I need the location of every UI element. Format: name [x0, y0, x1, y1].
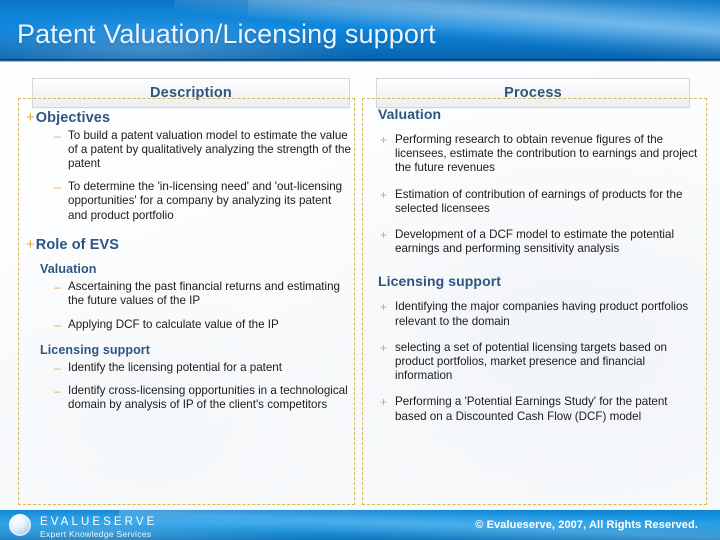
- plus-bullet-icon: +: [380, 228, 395, 256]
- brand-name: EVALUESERVE: [40, 516, 157, 528]
- list-item-text: Identify the licensing potential for a p…: [68, 361, 352, 375]
- list-item: – Identify the licensing potential for a…: [54, 361, 352, 375]
- list-item-text: Development of a DCF model to estimate t…: [395, 228, 702, 256]
- slide-footer-bar: EVALUESERVE Expert Knowledge Services © …: [0, 510, 720, 540]
- list-item-text: Identifying the major companies having p…: [395, 300, 702, 328]
- plus-bullet-icon: +: [380, 341, 395, 384]
- description-content: + Objectives – To build a patent valuati…: [26, 104, 352, 421]
- list-item-text: Applying DCF to calculate value of the I…: [68, 318, 352, 332]
- list-item-text: To build a patent valuation model to est…: [68, 129, 352, 172]
- slide-canvas: Patent Valuation/Licensing support Descr…: [0, 0, 720, 540]
- list-item-text: To determine the 'in-licensing need' and…: [68, 180, 352, 223]
- subheading-valuation: Valuation: [378, 106, 702, 122]
- list-item: + Development of a DCF model to estimate…: [380, 228, 702, 256]
- plus-bullet-icon: +: [380, 395, 395, 423]
- list-item-text: Estimation of contribution of earnings o…: [395, 188, 702, 216]
- plus-icon: +: [26, 110, 35, 127]
- subheading-valuation: Valuation: [40, 262, 352, 276]
- header-underline: [0, 59, 720, 62]
- list-item: – To build a patent valuation model to e…: [54, 129, 352, 172]
- process-content: Valuation + Performing research to obtai…: [378, 104, 702, 433]
- list-item: + Performing a 'Potential Earnings Study…: [380, 395, 702, 423]
- list-item: – Identify cross-licensing opportunities…: [54, 384, 352, 412]
- list-item-text: Ascertaining the past financial returns …: [68, 280, 352, 308]
- licensing-support-list: – Identify the licensing potential for a…: [40, 361, 352, 413]
- logo-leaf-icon: [17, 517, 23, 532]
- copyright-text: © Evalueserve, 2007, All Rights Reserved…: [475, 519, 698, 531]
- section-objectives-label: Objectives: [36, 110, 110, 126]
- list-item-text: Performing research to obtain revenue fi…: [395, 133, 702, 176]
- list-item: + Identifying the major companies having…: [380, 300, 702, 328]
- brand-tagline: Expert Knowledge Services: [40, 529, 151, 539]
- list-item-text: Identify cross-licensing opportunities i…: [68, 384, 352, 412]
- list-item: + Estimation of contribution of earnings…: [380, 188, 702, 216]
- list-item-text: selecting a set of potential licensing t…: [395, 341, 702, 384]
- list-item: – Applying DCF to calculate value of the…: [54, 318, 352, 332]
- dash-bullet-icon: –: [54, 280, 68, 308]
- list-item: + Performing research to obtain revenue …: [380, 133, 702, 176]
- dash-bullet-icon: –: [54, 361, 68, 375]
- list-item: + selecting a set of potential licensing…: [380, 341, 702, 384]
- subheading-licensing-support: Licensing support: [40, 343, 352, 357]
- dash-bullet-icon: –: [54, 129, 68, 172]
- plus-bullet-icon: +: [380, 188, 395, 216]
- list-item: – To determine the 'in-licensing need' a…: [54, 180, 352, 223]
- list-item-text: Performing a 'Potential Earnings Study' …: [395, 395, 702, 423]
- dash-bullet-icon: –: [54, 318, 68, 332]
- plus-bullet-icon: +: [380, 300, 395, 328]
- dash-bullet-icon: –: [54, 180, 68, 223]
- dash-bullet-icon: –: [54, 384, 68, 412]
- plus-icon: +: [26, 237, 35, 254]
- evalueserve-logo-icon: [9, 514, 31, 536]
- subheading-licensing-support: Licensing support: [378, 273, 702, 289]
- section-role-of-evs-heading: + Role of EVS: [26, 237, 352, 254]
- section-objectives-heading: + Objectives: [26, 110, 352, 127]
- page-title: Patent Valuation/Licensing support: [17, 19, 436, 50]
- valuation-list: – Ascertaining the past financial return…: [40, 280, 352, 332]
- section-role-of-evs-label: Role of EVS: [36, 237, 119, 253]
- list-item: – Ascertaining the past financial return…: [54, 280, 352, 308]
- plus-bullet-icon: +: [380, 133, 395, 176]
